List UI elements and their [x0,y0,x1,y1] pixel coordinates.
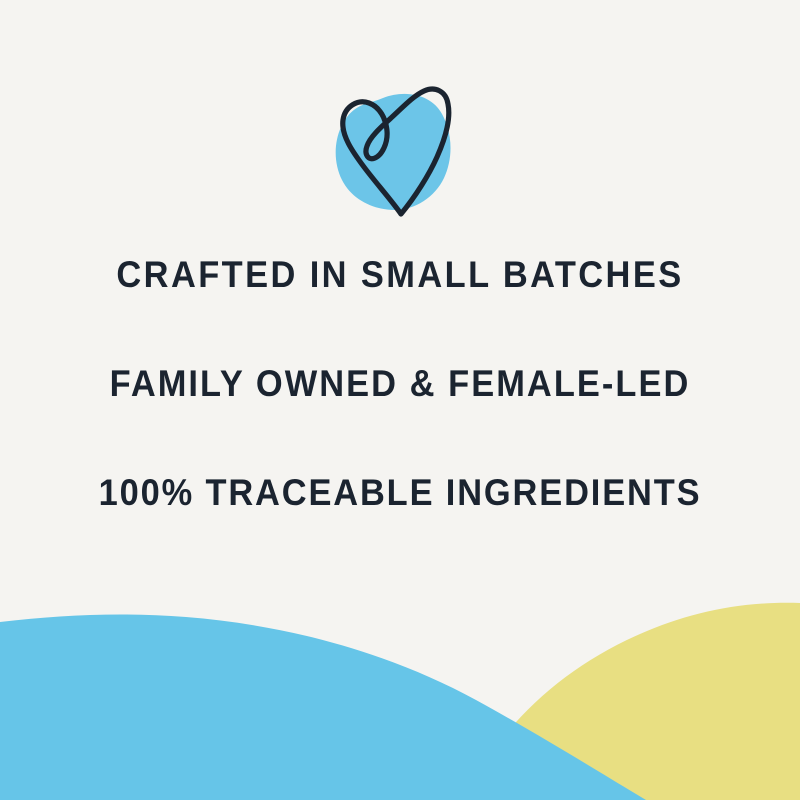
blue-wave-shape [0,615,646,800]
yellow-wave-shape [464,603,800,800]
claim-line-family-owned-female-led: FAMILY OWNED & FEMALE-LED [28,365,772,402]
claims-list: CRAFTED IN SMALL BATCHES FAMILY OWNED & … [0,256,800,511]
claim-line-crafted-in-small-batches: CRAFTED IN SMALL BATCHES [28,256,772,293]
brand-heart-logo [320,62,480,232]
claim-line-traceable-ingredients: 100% TRACEABLE INGREDIENTS [28,474,772,511]
brand-values-card: CRAFTED IN SMALL BATCHES FAMILY OWNED & … [0,0,800,800]
